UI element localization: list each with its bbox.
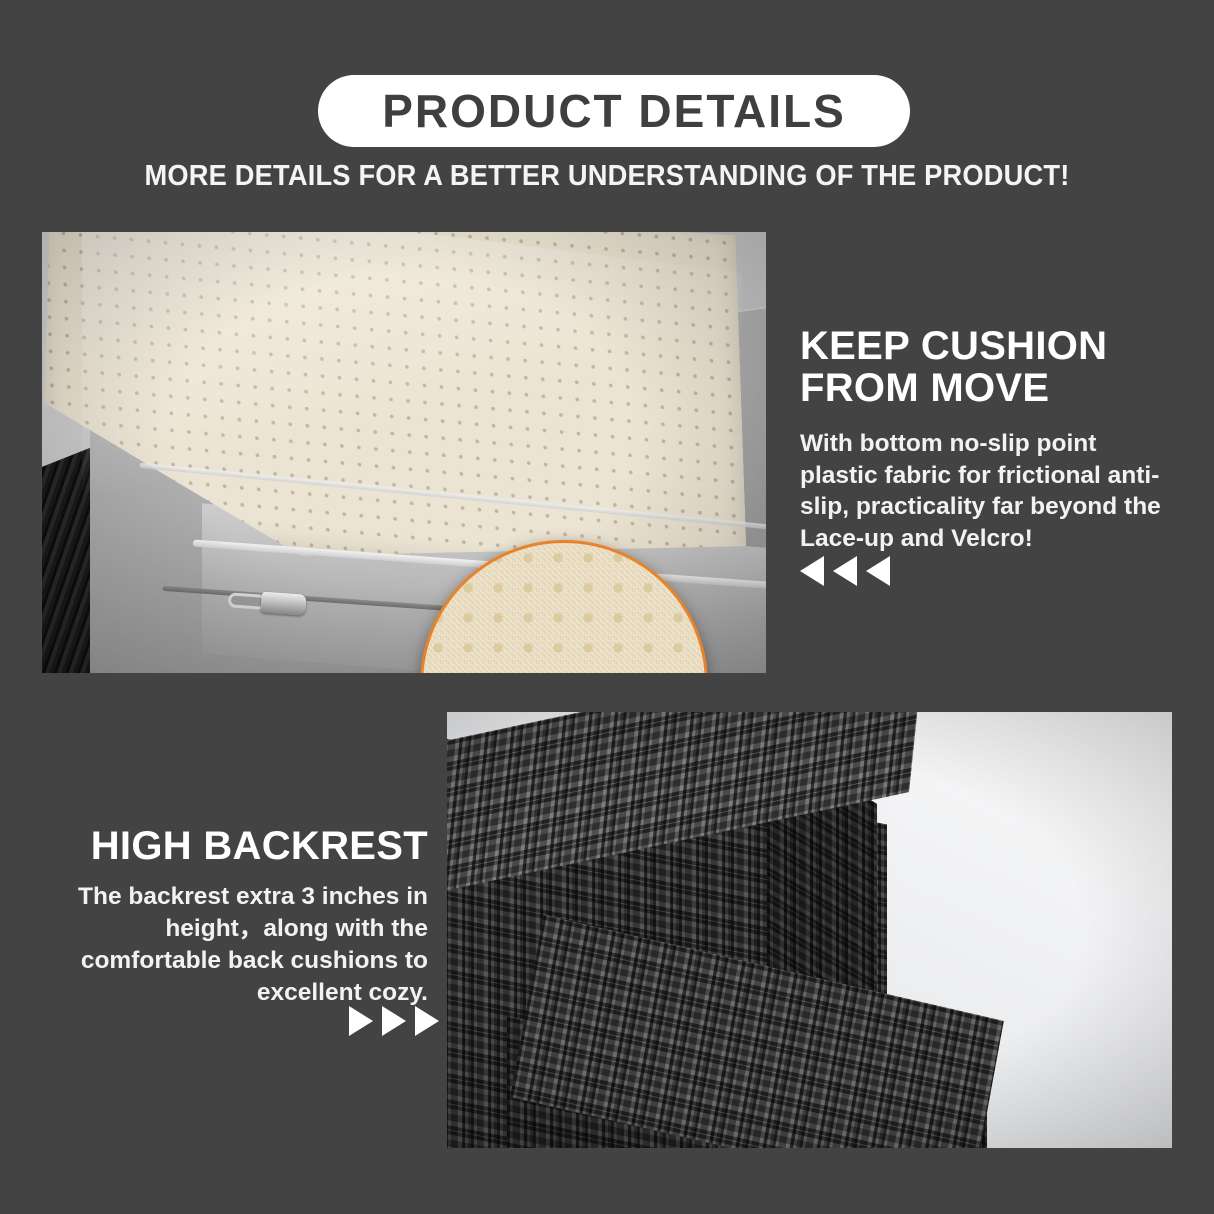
right-arrow-indicator-group [349,1006,439,1036]
left-arrow-icon [800,556,824,586]
page-subtitle: MORE DETAILS FOR A BETTER UNDERSTANDING … [36,160,1177,193]
header: PRODUCT DETAILS MORE DETAILS FOR A BETTE… [0,0,1214,215]
feature-description: With bottom no-slip point plastic fabric… [800,428,1168,555]
wicker-backrest-photo [447,712,1172,1148]
left-arrow-icon [866,556,890,586]
right-arrow-icon [415,1006,439,1036]
feature-high-backrest: HIGH BACKREST The backrest extra 3 inche… [36,825,428,1009]
feature-description: The backrest extra 3 inches in height，al… [36,881,428,1008]
feature-keep-cushion-from-move: KEEP CUSHION FROM MOVE With bottom no-sl… [800,325,1168,555]
right-arrow-icon [349,1006,373,1036]
page-title: PRODUCT DETAILS [382,88,846,134]
left-arrow-icon [833,556,857,586]
zipper-slider [260,592,306,616]
feature-heading: HIGH BACKREST [36,825,428,867]
feature-heading: KEEP CUSHION FROM MOVE [800,325,1168,410]
title-pill: PRODUCT DETAILS [318,75,910,147]
right-arrow-icon [382,1006,406,1036]
cushion-underside-photo [42,232,766,673]
left-arrow-indicator-group [800,556,890,586]
